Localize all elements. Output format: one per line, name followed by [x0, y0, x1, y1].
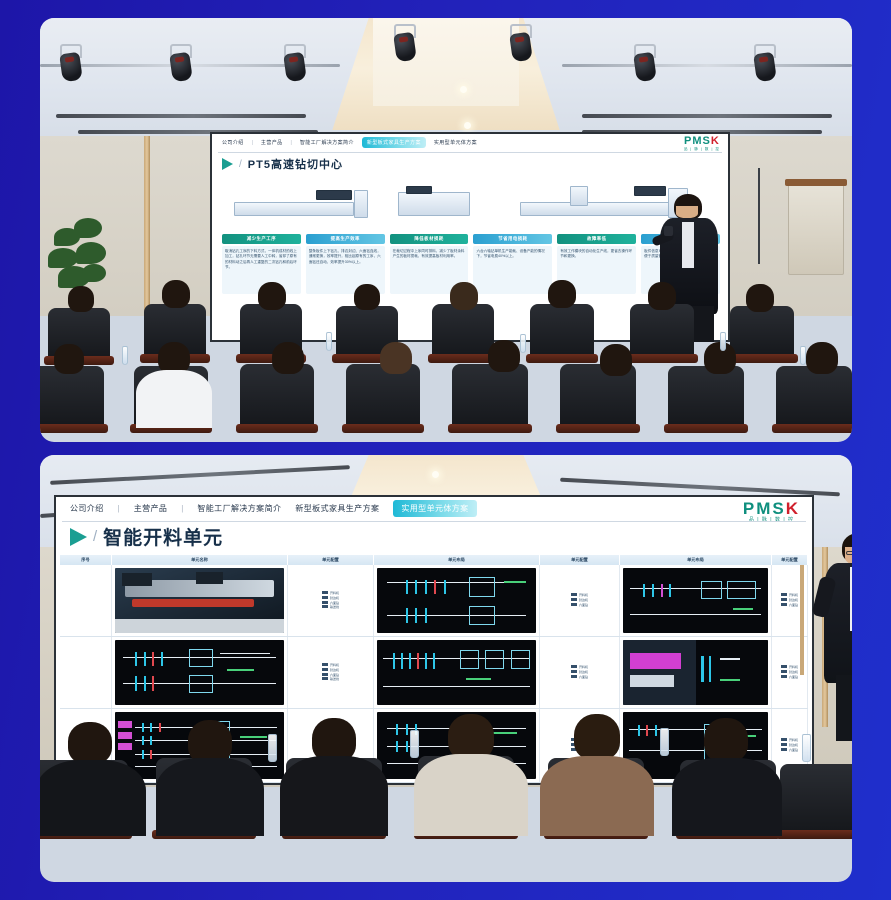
attendee-head — [54, 344, 84, 374]
slide-divider — [218, 152, 722, 153]
slide-bottom-nav: 公司介绍 | 主营产品 | 智能工厂解决方案简介 新型板式家具生产方案 实用型单… — [56, 497, 812, 519]
attendee-head — [68, 286, 94, 312]
water-bottle — [520, 334, 526, 353]
water-bottle — [660, 728, 669, 756]
attendee-head — [600, 344, 632, 376]
col-header-config-1: 单元配置 — [288, 555, 374, 565]
chair — [530, 304, 594, 358]
attendee-head — [704, 718, 748, 762]
slide-divider — [62, 521, 806, 522]
nav-item-company[interactable]: 公司介绍 — [70, 503, 104, 514]
spotlight-7 — [752, 44, 778, 84]
spotlight-3 — [282, 44, 308, 84]
pmsk-logo-top: PMSK 品 | 脉 | 数 | 控 — [684, 136, 720, 152]
cad-layout-diagram — [377, 568, 536, 633]
unit-photo — [623, 640, 768, 705]
photo-bottom-seminar: 公司介绍 | 主营产品 | 智能工厂解决方案简介 新型板式家具生产方案 实用型单… — [40, 455, 852, 882]
machine-saw — [234, 202, 354, 216]
attendee-head — [450, 282, 478, 310]
slide-title-row-bottom: / 智能开料单元 — [70, 523, 223, 550]
chair — [40, 366, 104, 428]
nav-item-unit-solution[interactable]: 实用型单元体方案 — [434, 139, 477, 146]
microphone-stand — [758, 168, 760, 264]
cell-config: 开料机 封边机 六面钻 输送线 — [288, 565, 374, 636]
feature-box-4: 节省用电损耗 六台六轴钻单机生产能耗、设备产能的情况下，节省电费40%以上。 — [473, 234, 552, 294]
machine-saw-cabinet — [354, 190, 368, 218]
spotlight-6 — [632, 44, 658, 84]
wall-trim-strip — [800, 565, 804, 675]
title-slash: / — [93, 528, 97, 545]
attendee-head — [806, 342, 838, 374]
spotlight-2 — [168, 44, 194, 84]
chair — [668, 366, 744, 428]
col-header-layout-2: 单元布局 — [620, 555, 772, 565]
attendee-head — [380, 342, 412, 374]
slide-title-bottom: 智能开料单元 — [103, 523, 223, 550]
col-header-layout-1: 单元布局 — [374, 555, 540, 565]
config-legend: 开料机 封边机 六面钻 — [781, 665, 798, 679]
col-header-index: 序号 — [60, 555, 112, 565]
water-bottle — [720, 332, 726, 351]
nav-separator: | — [252, 140, 253, 146]
machine-saw-panel — [316, 190, 352, 200]
nav-separator: | — [291, 140, 292, 146]
table-row: 开料机 封边机 六面钻 输送线 — [60, 565, 808, 637]
bottom-scene: 公司介绍 | 主营产品 | 智能工厂解决方案简介 新型板式家具生产方案 实用型单… — [40, 455, 852, 882]
attendee-head — [162, 280, 190, 308]
table-header-row: 序号 单元名称 单元配置 单元布局 单元配置 单元布局 单元配置 — [60, 555, 808, 565]
attendee-head — [258, 282, 286, 310]
chair — [730, 306, 794, 358]
cell-layout — [620, 565, 772, 636]
water-bottle — [410, 730, 419, 758]
audience-seating-top — [40, 302, 852, 442]
nav-item-smart-factory[interactable]: 智能工厂解决方案简介 — [300, 139, 354, 146]
cad-layout-diagram — [377, 640, 536, 705]
chair — [346, 364, 420, 428]
slide-title-top: PT5高速钻切中心 — [248, 156, 343, 172]
ceiling-slat-1 — [56, 114, 306, 118]
title-slash: / — [239, 159, 242, 170]
audience-seating-bottom — [40, 712, 852, 882]
water-bottle — [326, 332, 332, 351]
machine-line-illustration — [230, 182, 714, 230]
nav-item-products[interactable]: 主营产品 — [134, 503, 168, 514]
nav-item-panel-furniture[interactable]: 新型板式家具生产方案 — [362, 137, 426, 148]
chair — [630, 304, 694, 358]
top-scene: 公司介绍 | 主营产品 | 智能工厂解决方案简介 新型板式家具生产方案 实用型单… — [40, 18, 852, 442]
feature-caption-2: 提高生产效率 — [306, 234, 385, 244]
cell-index — [60, 565, 112, 636]
slide-top-nav: 公司介绍 | 主营产品 | 智能工厂解决方案简介 新型板式家具生产方案 实用型单… — [212, 134, 728, 151]
config-legend: 开料机 封边机 六面钻 输送线 — [322, 591, 339, 610]
attendee-shoulders — [136, 370, 212, 428]
col-header-config-2: 单元配置 — [540, 555, 620, 565]
cell-layout — [374, 565, 540, 636]
chair — [432, 304, 494, 358]
nav-item-products[interactable]: 主营产品 — [261, 139, 283, 146]
config-legend: 开料机 封边机 六面钻 输送线 — [322, 663, 339, 682]
water-bottle — [268, 734, 277, 762]
spotlight-1 — [58, 44, 84, 84]
cell-layout — [374, 637, 540, 708]
spotlight-4 — [392, 24, 418, 64]
cell-config: 开料机 封边机 六面钻 输送线 — [288, 637, 374, 708]
attendee-shoulders — [156, 758, 264, 836]
pmsk-wordmark: PMSK — [743, 500, 800, 517]
attendee-shoulders — [672, 758, 782, 836]
config-legend: 开料机 封边机 六面钻 — [781, 593, 798, 607]
attendee-head — [574, 714, 620, 760]
attendee-head — [272, 342, 304, 374]
machine-drill — [520, 202, 670, 216]
cell-config: 开料机 封边机 六面钻 — [540, 637, 620, 708]
cell-layout — [620, 637, 772, 708]
attendee-head — [648, 282, 676, 310]
lectern — [788, 183, 844, 275]
config-legend: 开料机 封边机 六面钻 — [571, 593, 588, 607]
attendee-shoulders — [414, 754, 528, 836]
downlight-1 — [460, 86, 467, 93]
chevron-right-icon — [222, 158, 233, 170]
attendee-head — [548, 280, 576, 308]
chair — [452, 364, 528, 428]
machine-edgebander — [398, 192, 470, 216]
chair — [776, 366, 852, 428]
feature-text-4: 六台六轴钻单机生产能耗、设备产能的情况下，节省电费40%以上。 — [473, 246, 552, 294]
attendee-shoulders — [280, 756, 388, 836]
photo-top-seminar: 公司介绍 | 主营产品 | 智能工厂解决方案简介 新型板式家具生产方案 实用型单… — [40, 18, 852, 442]
feature-caption-4: 节省用电损耗 — [473, 234, 552, 244]
machine-drill-gantry — [570, 186, 588, 206]
feature-caption-3: 降低板材损耗 — [390, 234, 469, 244]
table-row: 开料机 封边机 六面钻 输送线 — [60, 637, 808, 709]
attendee-head — [68, 722, 112, 764]
nav-separator: | — [181, 504, 183, 513]
cad-layout-diagram — [115, 640, 284, 705]
attendee-shoulders — [540, 756, 654, 836]
cell-unit-photo — [112, 565, 288, 636]
cell-index — [60, 637, 112, 708]
feature-caption-1: 减少生产工序 — [222, 234, 301, 244]
col-header-name: 单元名称 — [112, 555, 288, 565]
machine-edgebander-top — [406, 186, 432, 194]
nav-item-company[interactable]: 公司介绍 — [222, 139, 244, 146]
downlight — [432, 471, 439, 478]
nav-separator: | — [118, 504, 120, 513]
wall-wood-trim — [144, 136, 150, 311]
light-bar-right — [562, 64, 852, 67]
unit-photo — [115, 568, 284, 633]
attendee-head — [354, 284, 380, 310]
water-bottle — [802, 734, 811, 762]
attendee-head — [746, 284, 774, 312]
water-bottle — [800, 346, 806, 365]
nav-item-unit-solution[interactable]: 实用型单元体方案 — [393, 500, 476, 517]
cell-config: 开料机 封边机 六面钻 — [540, 565, 620, 636]
pmsk-wordmark: PMSK — [684, 136, 720, 147]
cad-layout-diagram — [623, 568, 768, 633]
attendee-shoulders — [40, 760, 146, 836]
downlight-2 — [464, 122, 471, 129]
nav-item-smart-factory[interactable]: 智能工厂解决方案简介 — [197, 503, 281, 514]
ceiling-slat-3 — [582, 114, 832, 118]
slide-title-row: / PT5高速钻切中心 — [222, 156, 343, 172]
col-header-config-3: 单元配置 — [772, 555, 808, 565]
config-legend: 开料机 封边机 六面钻 — [571, 665, 588, 679]
cell-layout — [112, 637, 288, 708]
feature-caption-5: 故障率低 — [557, 234, 636, 244]
nav-item-panel-furniture[interactable]: 新型板式家具生产方案 — [295, 503, 379, 514]
attendee-head — [488, 340, 520, 372]
chair — [240, 364, 314, 428]
spotlight-5 — [508, 24, 534, 64]
water-bottle — [122, 346, 128, 365]
pmsk-logo-bottom: PMSK 品 | 脉 | 数 | 控 — [743, 500, 800, 523]
chair — [780, 764, 852, 834]
chevron-right-icon — [70, 528, 87, 546]
